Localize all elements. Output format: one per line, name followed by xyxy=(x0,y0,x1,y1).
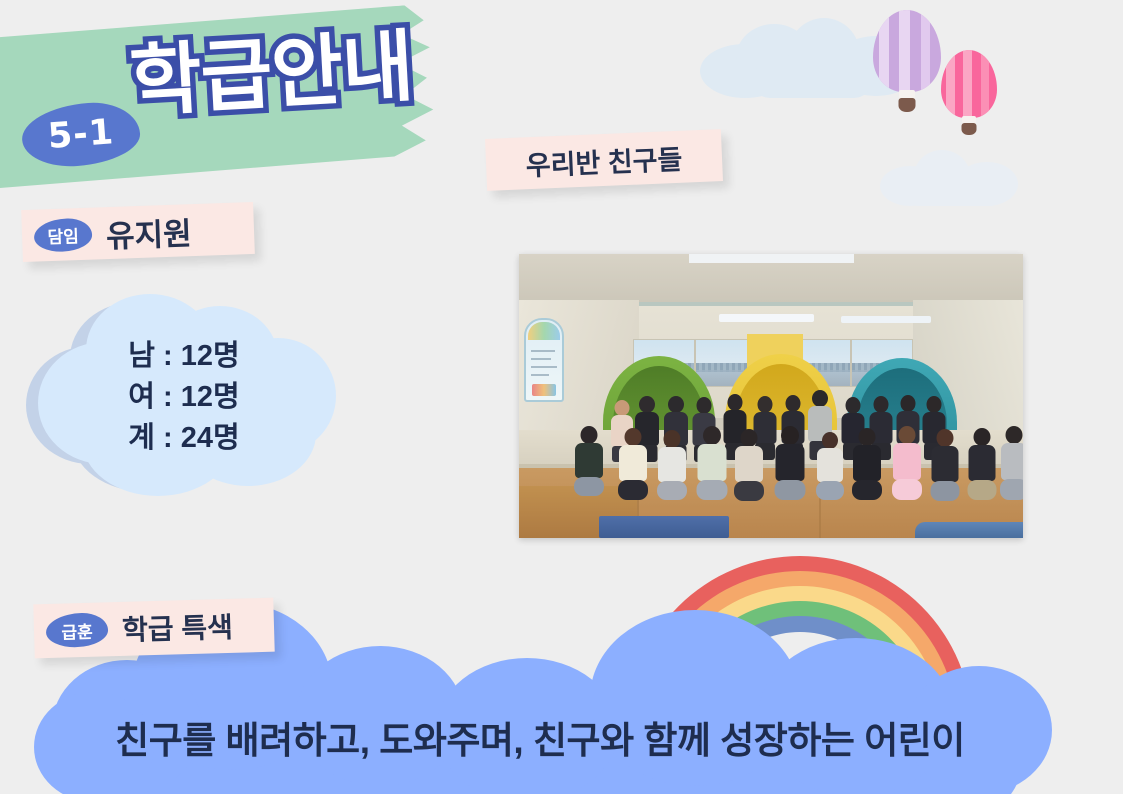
student-figure xyxy=(575,426,603,496)
count-row-boys: 남 : 12명 xyxy=(24,336,344,377)
teacher-banner: 담임 유지원 xyxy=(21,202,255,262)
count-row-total: 계 : 24명 xyxy=(24,418,344,459)
student-figure xyxy=(817,432,843,500)
motto-banner-label: 학급 특색 xyxy=(121,606,233,649)
student-figure xyxy=(931,429,958,501)
student-figure xyxy=(775,426,804,500)
student-count-cloud: 남 : 12명 여 : 12명 계 : 24명 xyxy=(24,288,344,512)
student-figure xyxy=(893,426,921,500)
student-figure xyxy=(619,428,647,500)
classmates-label: 우리반 친구들 xyxy=(525,137,683,183)
student-figure xyxy=(735,429,763,501)
title-ribbon: 5-1 학급안내 xyxy=(0,3,450,188)
page-title: 학급안내 xyxy=(127,19,415,132)
classmates-banner: 우리반 친구들 xyxy=(485,129,723,191)
class-motto-banner: 급훈 학급 특색 xyxy=(33,598,274,659)
class-info-poster: 5-1 학급안내 담임 유지원 우리반 친구들 남 : 12명 여 : 12명 … xyxy=(0,0,1123,794)
faint-cloud xyxy=(880,150,1020,210)
count-row-girls: 여 : 12명 xyxy=(24,377,344,418)
class-photo-image xyxy=(519,254,1023,538)
purple-balloon xyxy=(873,10,941,114)
pink-balloon xyxy=(941,50,997,136)
student-figure xyxy=(968,428,995,500)
student-figure xyxy=(697,426,726,500)
wall-poster-icon xyxy=(524,318,564,402)
motto-badge: 급훈 xyxy=(46,612,109,648)
teacher-name: 유지원 xyxy=(105,208,192,256)
student-figure xyxy=(853,428,881,500)
grade-badge-label: 5-1 xyxy=(47,115,116,155)
student-count-list: 남 : 12명 여 : 12명 계 : 24명 xyxy=(24,336,344,460)
class-photo xyxy=(519,254,1023,538)
student-figure xyxy=(1001,426,1023,500)
class-motto-text: 친구를 배려하고, 도와주며, 친구와 함께 성장하는 어린이 xyxy=(0,710,1080,764)
student-figure xyxy=(658,430,686,500)
teacher-badge: 담임 xyxy=(33,217,92,252)
